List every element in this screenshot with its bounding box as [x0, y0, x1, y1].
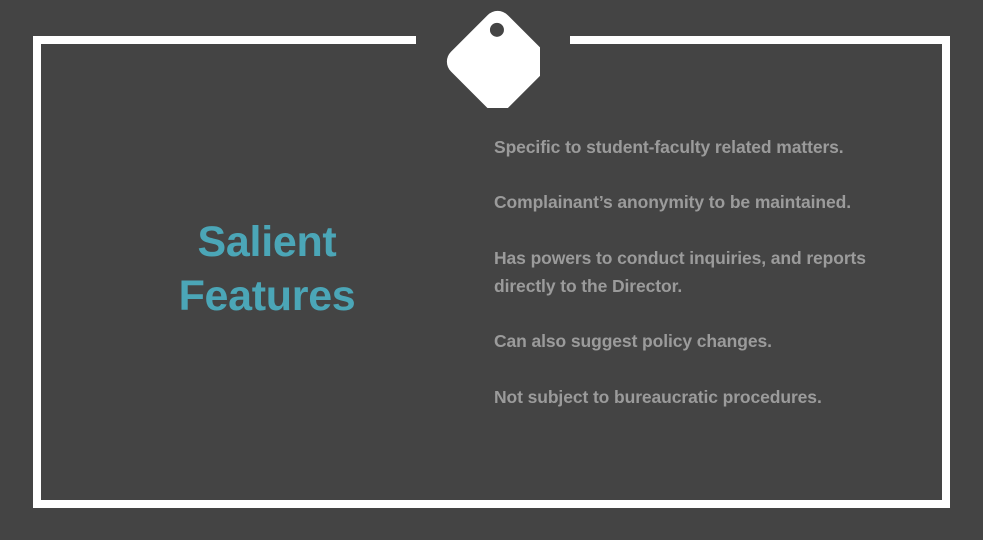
title-column: Salient Features: [41, 187, 493, 356]
list-item: Not subject to bureaucratic procedures.: [494, 383, 924, 411]
bullet-list: Specific to student-faculty related matt…: [493, 115, 942, 428]
frame-border-top-left: [33, 36, 416, 44]
slide-content: Salient Features Specific to student-fac…: [41, 44, 942, 500]
list-item: Can also suggest policy changes.: [494, 327, 924, 355]
frame-border-bottom: [33, 500, 950, 508]
list-item: Specific to student-faculty related matt…: [494, 133, 924, 161]
title-line-2: Features: [179, 270, 356, 324]
frame-border-top-right: [570, 36, 950, 44]
slide-canvas: Salient Features Specific to student-fac…: [0, 0, 983, 540]
page-title: Salient Features: [179, 216, 356, 324]
list-item: Complainant’s anonymity to be maintained…: [494, 188, 924, 216]
title-line-1: Salient: [179, 216, 356, 270]
list-item: Has powers to conduct inquiries, and rep…: [494, 244, 924, 301]
frame-border-right: [942, 36, 950, 508]
frame-border-left: [33, 36, 41, 508]
